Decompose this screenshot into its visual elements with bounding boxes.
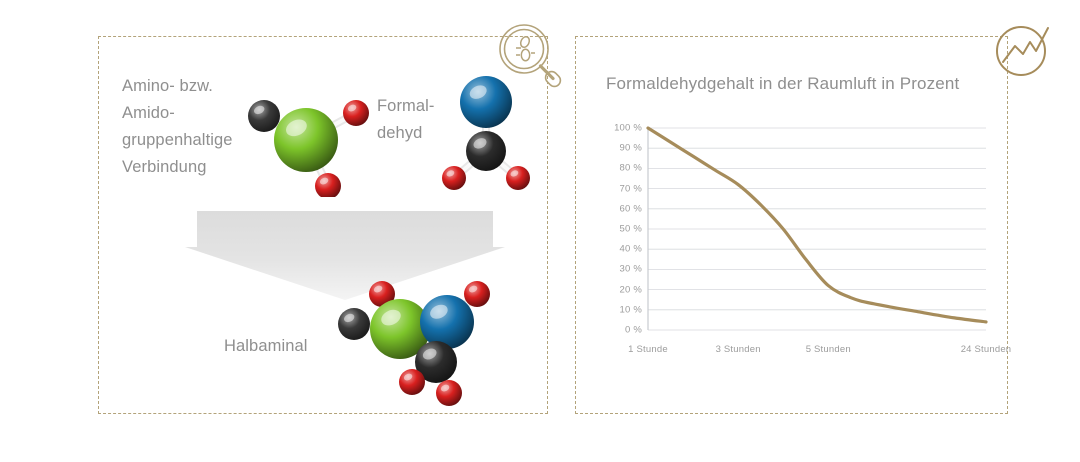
product-label: Halbaminal: [224, 337, 308, 356]
x-axis-tick: 5 Stunden: [806, 344, 851, 355]
trend-chart-icon: [988, 18, 1060, 84]
amino-compound-molecule: [238, 82, 373, 197]
chart-title: Formaldehydgehalt in der Raumluft in Pro…: [606, 74, 959, 94]
x-axis-tick: 3 Stunden: [716, 344, 761, 355]
y-axis-tick: 90 %: [600, 143, 642, 154]
y-axis-tick: 0 %: [600, 325, 642, 336]
y-axis-tick: 50 %: [600, 224, 642, 235]
y-axis-tick: 20 %: [600, 284, 642, 295]
x-axis-tick: 24 Stunden: [961, 344, 1012, 355]
magnifier-icon: [497, 22, 563, 88]
formaldehyde-label-line-2: dehyd: [377, 120, 435, 147]
y-axis-tick: 40 %: [600, 244, 642, 255]
line-chart: [600, 118, 1000, 378]
y-axis-tick: 80 %: [600, 163, 642, 174]
x-axis-tick: 1 Stunde: [628, 344, 668, 355]
y-axis-tick: 10 %: [600, 304, 642, 315]
y-axis-tick: 60 %: [600, 203, 642, 214]
y-axis-tick: 30 %: [600, 264, 642, 275]
halbaminal-molecule: [325, 272, 505, 412]
formaldehyde-label-line-1: Formal-: [377, 93, 435, 120]
formaldehyde-label: Formal- dehyd: [377, 93, 435, 147]
y-axis-tick: 100 %: [600, 123, 642, 134]
infographic-canvas: Amino- bzw. Amido- gruppenhaltige Verbin…: [0, 0, 1080, 462]
y-axis-tick: 70 %: [600, 183, 642, 194]
